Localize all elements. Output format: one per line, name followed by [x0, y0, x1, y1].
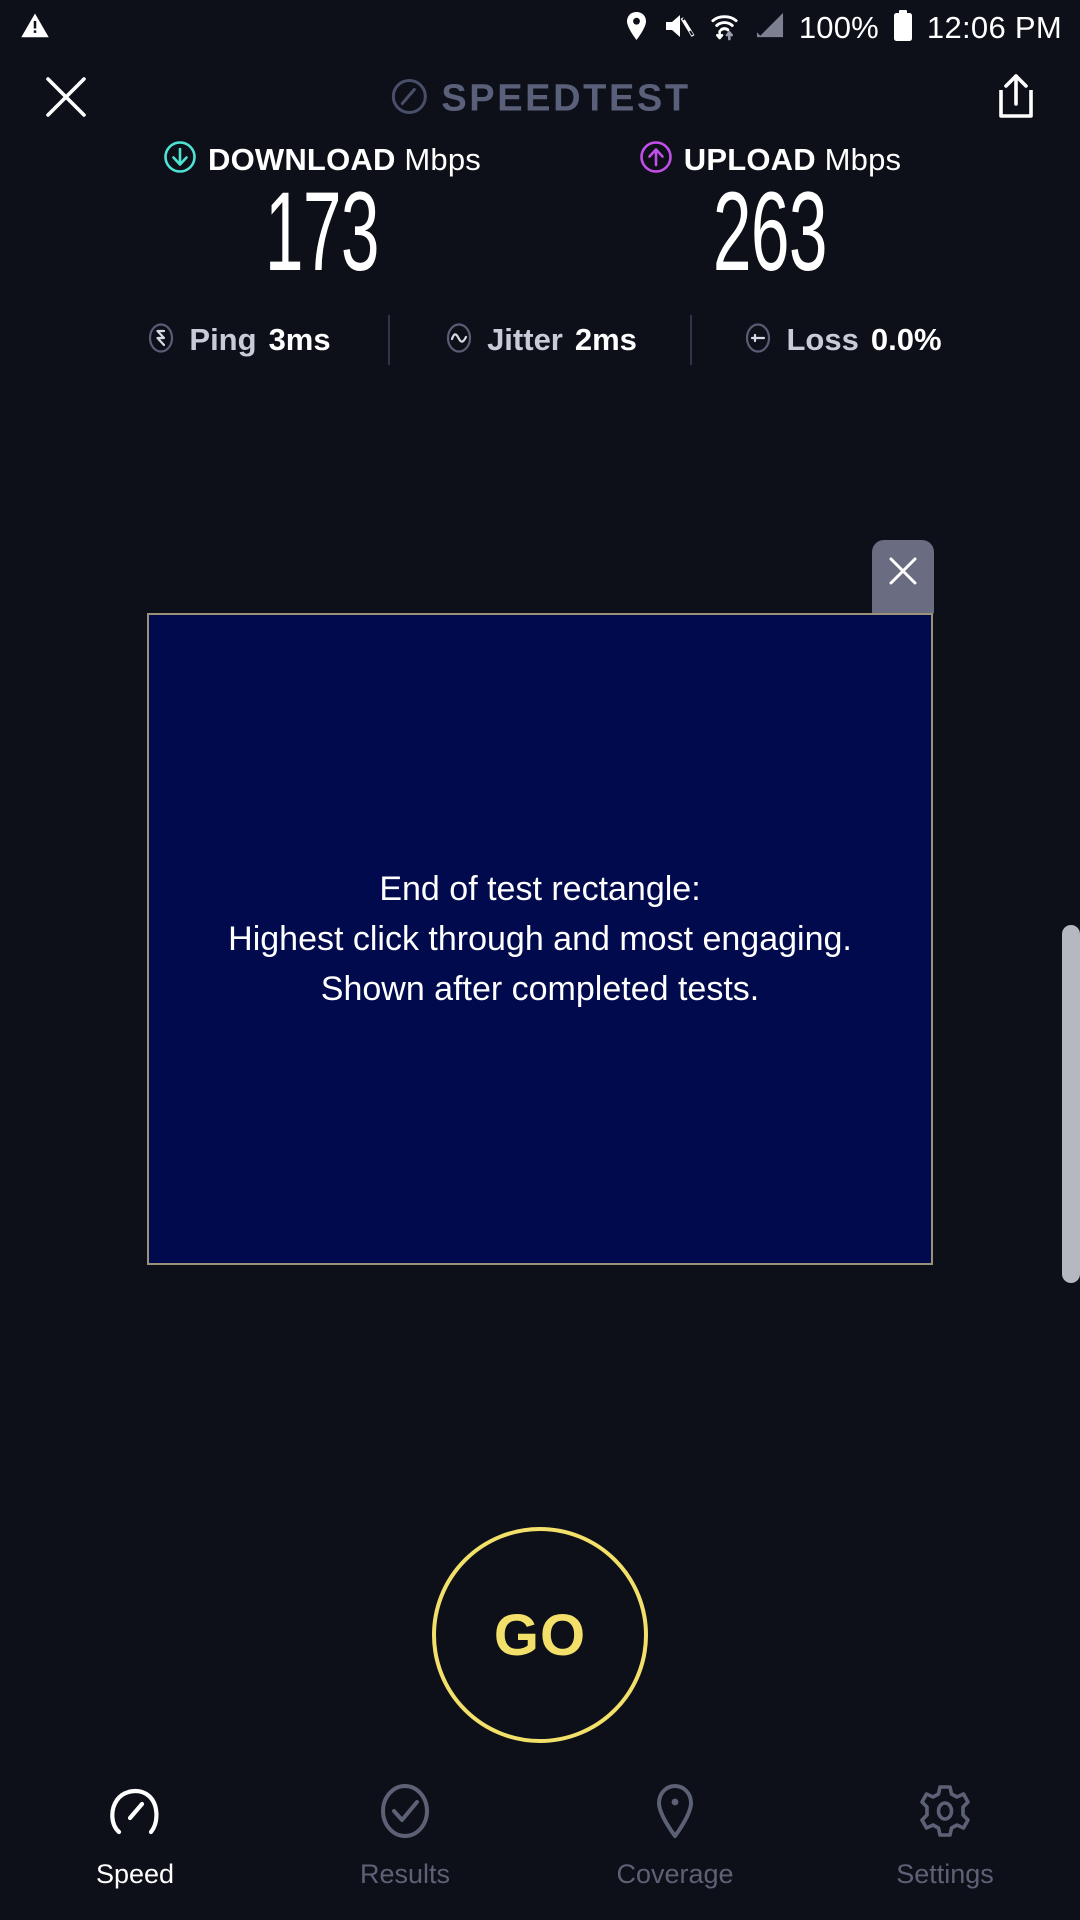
speedtest-gauge-icon: [389, 77, 429, 122]
wifi-transfer-icon: [709, 10, 740, 46]
arrow-up-circle-icon: [639, 140, 673, 179]
ping-label: Ping: [189, 322, 256, 358]
volume-muted-icon: [663, 11, 695, 46]
close-x-icon: [43, 74, 89, 125]
loss-value: 0.0%: [871, 322, 942, 358]
status-bar-left: [20, 11, 50, 46]
ad-close-button[interactable]: [872, 540, 934, 615]
nav-label-coverage: Coverage: [616, 1859, 733, 1890]
location-pin-icon: [624, 11, 649, 46]
go-button-label: GO: [494, 1602, 586, 1669]
download-block: DOWNLOAD Mbps 173: [157, 140, 487, 289]
metric-jitter: Jitter 2ms: [390, 322, 690, 359]
jitter-icon: [443, 322, 475, 359]
share-upload-icon: [995, 73, 1037, 126]
jitter-label: Jitter: [487, 322, 563, 358]
brand-logo: SPEEDTEST: [389, 77, 690, 122]
bottom-navigation: Speed Results Coverage: [0, 1768, 1080, 1920]
battery-full-icon: [893, 10, 913, 47]
close-button[interactable]: [38, 71, 94, 127]
battery-percent-label: 100%: [799, 10, 879, 46]
speedometer-icon: [106, 1782, 164, 1845]
nav-label-speed: Speed: [96, 1859, 174, 1890]
page-scrollbar[interactable]: [1062, 925, 1080, 1283]
check-circle-icon: [376, 1782, 434, 1845]
metrics-row: Ping 3ms Jitter 2ms: [0, 315, 1080, 365]
speedtest-app-screen: 100% 12:06 PM SPEEDTEST: [0, 0, 1080, 1920]
status-bar-clock: 12:06 PM: [927, 10, 1062, 46]
nav-item-speed[interactable]: Speed: [0, 1782, 270, 1890]
metric-ping: Ping 3ms: [88, 322, 388, 359]
nav-label-settings: Settings: [896, 1859, 994, 1890]
nav-item-coverage[interactable]: Coverage: [540, 1782, 810, 1890]
loss-label: Loss: [786, 322, 858, 358]
map-pin-icon: [646, 1782, 704, 1845]
ping-value: 3ms: [269, 322, 331, 358]
loss-icon: [742, 322, 774, 359]
app-title: SPEEDTEST: [441, 78, 690, 121]
download-upload-row: DOWNLOAD Mbps 173 UPLOAD Mbps 263: [0, 140, 1080, 289]
status-bar: 100% 12:06 PM: [0, 0, 1080, 56]
upload-value: 263: [713, 175, 827, 289]
ping-icon: [145, 322, 177, 359]
cellular-signal-icon: [754, 11, 785, 45]
advertisement-banner[interactable]: End of test rectangle: Highest click thr…: [147, 613, 933, 1265]
nav-label-results: Results: [360, 1859, 450, 1890]
jitter-value: 2ms: [575, 322, 637, 358]
ad-line-2: Highest click through and most engaging.: [228, 914, 852, 964]
status-bar-right: 100% 12:06 PM: [624, 10, 1062, 47]
nav-item-settings[interactable]: Settings: [810, 1782, 1080, 1890]
download-value: 173: [265, 175, 379, 289]
nav-item-results[interactable]: Results: [270, 1782, 540, 1890]
share-button[interactable]: [988, 69, 1044, 129]
app-header: SPEEDTEST: [0, 56, 1080, 142]
warning-triangle-icon: [20, 11, 50, 46]
upload-block: UPLOAD Mbps 263: [605, 140, 935, 289]
ad-close-x-icon: [885, 553, 921, 594]
advertisement-text: End of test rectangle: Highest click thr…: [210, 864, 870, 1015]
go-button[interactable]: GO: [432, 1527, 648, 1743]
metric-loss: Loss 0.0%: [692, 322, 992, 359]
ad-line-3: Shown after completed tests.: [228, 964, 852, 1014]
gear-icon: [916, 1782, 974, 1845]
results-panel: DOWNLOAD Mbps 173 UPLOAD Mbps 263: [0, 140, 1080, 365]
ad-line-1: End of test rectangle:: [228, 864, 852, 914]
advertisement-container: End of test rectangle: Highest click thr…: [147, 613, 933, 1265]
arrow-down-circle-icon: [163, 140, 197, 179]
